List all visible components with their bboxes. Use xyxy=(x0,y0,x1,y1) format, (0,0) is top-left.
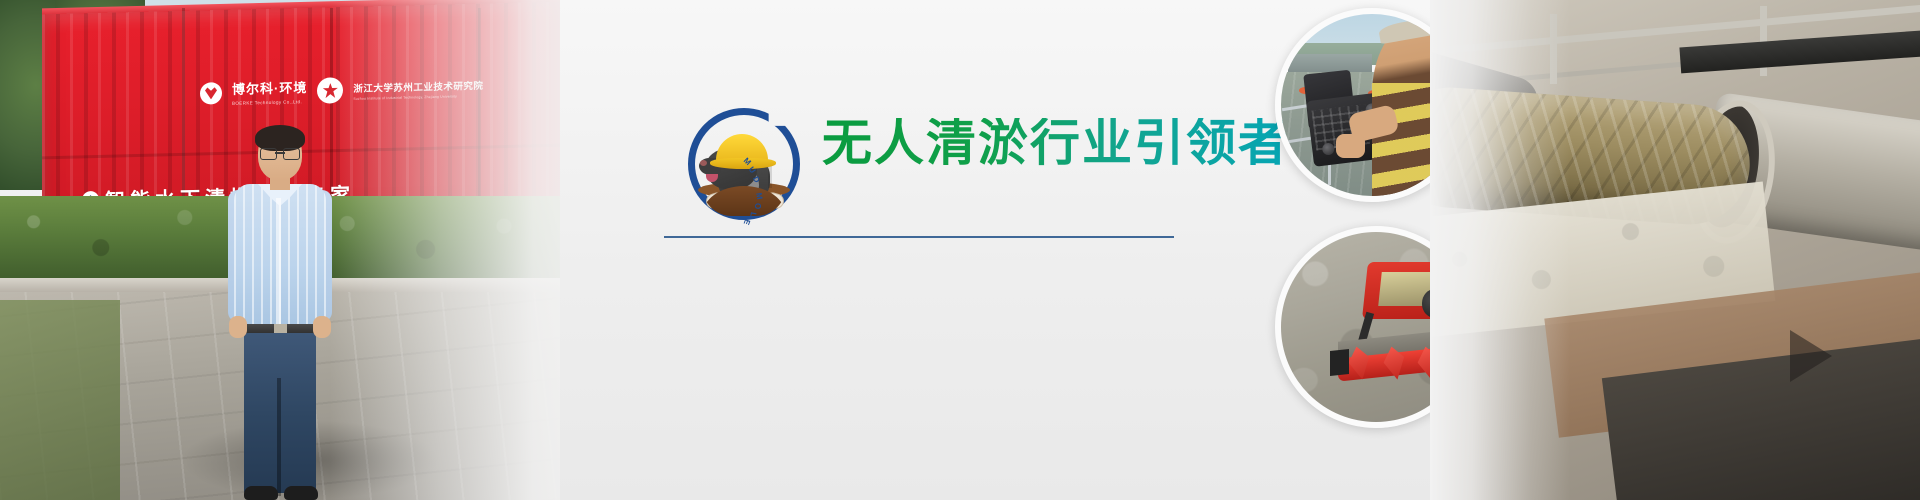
person-glasses-icon xyxy=(260,148,300,158)
mud-mole-logo: M U D M O L E xyxy=(688,108,800,220)
left-photo-fade xyxy=(330,0,560,500)
boerke-brand-cn: 博尔科·环境 xyxy=(232,80,307,97)
grass-patch xyxy=(0,300,120,500)
logo-mole-nose xyxy=(700,160,707,166)
right-photo-fade xyxy=(1430,0,1570,500)
photo-auger-end-box xyxy=(1330,349,1349,376)
person-right-hand xyxy=(313,316,331,338)
sludge-discharge-pipe-photo xyxy=(1430,0,1920,500)
hero-banner: 博尔科·环境 BOERKE Technology Co.,Ltd. 浙江大学苏州… xyxy=(0,0,1920,500)
photo-joystick xyxy=(1322,143,1335,156)
person-trouser-seam xyxy=(277,378,281,496)
boerke-brand-block: 博尔科·环境 BOERKE Technology Co.,Ltd. xyxy=(232,79,307,106)
person-shirt-placket xyxy=(276,198,281,326)
boerke-logo-icon xyxy=(200,82,222,105)
page-title: 无人清淤行业引领者 xyxy=(822,118,1290,168)
person-left-shoe xyxy=(244,486,278,500)
logo-ring-text: M U D M O L E xyxy=(742,154,802,214)
boerke-brand-en: BOERKE Technology Co.,Ltd. xyxy=(232,99,307,106)
title-divider xyxy=(664,236,1174,238)
left-photo: 博尔科·环境 BOERKE Technology Co.,Ltd. 浙江大学苏州… xyxy=(0,0,560,500)
engineer-person xyxy=(228,128,332,500)
photo-operator-hand xyxy=(1336,134,1365,158)
person-left-hand xyxy=(229,316,247,338)
person-right-shoe xyxy=(284,486,318,500)
photo-arrow-marking xyxy=(1790,330,1832,382)
center-content: M U D M O L E 无人清淤行业引领者 xyxy=(650,104,1270,274)
